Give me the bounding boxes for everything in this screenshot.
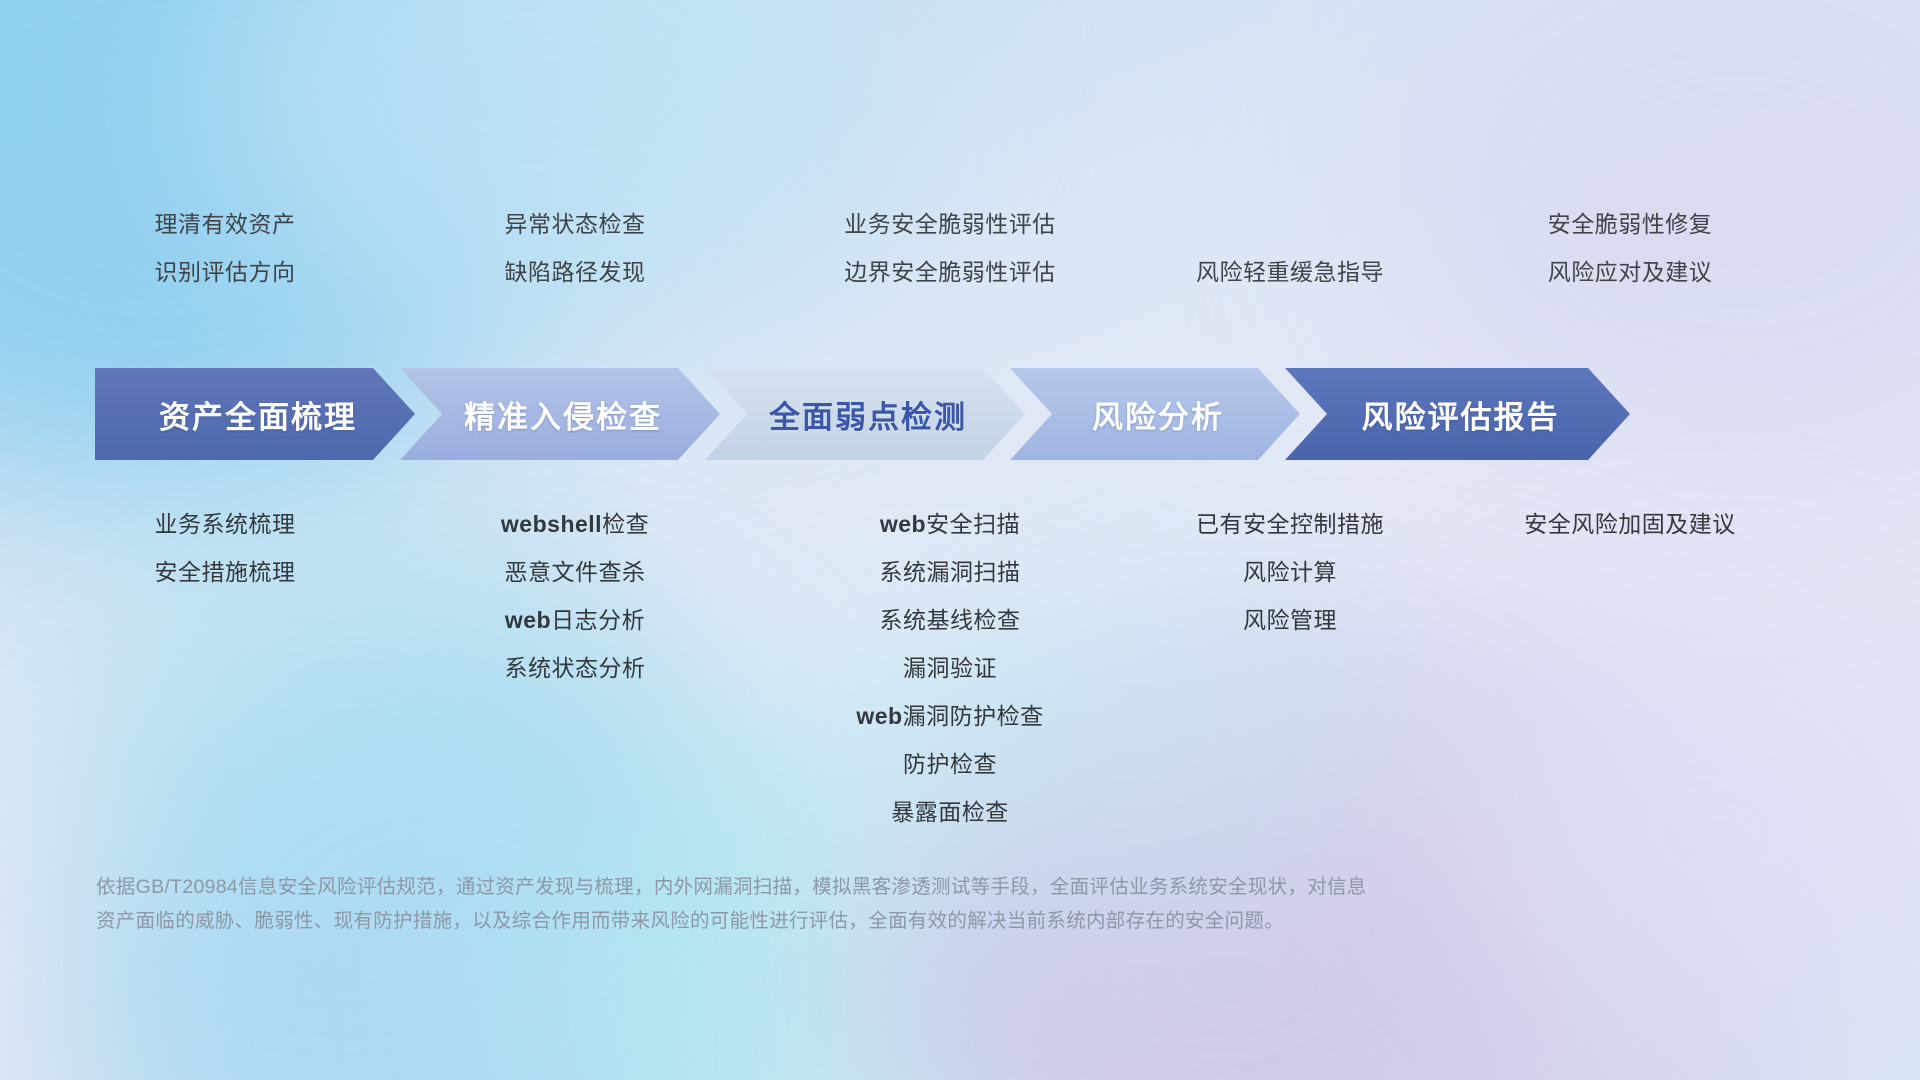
stage-bottom-item: 风险计算 [1090, 548, 1490, 596]
stage-bottom-item-text: 系统状态分析 [505, 655, 646, 681]
slide-canvas: 理清有效资产识别评估方向业务系统梳理安全措施梳理异常状态检查缺陷路径发现webs… [0, 0, 1920, 1080]
stage-chevron-label-2: 精准入侵检查 [458, 392, 662, 437]
stage-bottom-item-text: 安全措施梳理 [155, 559, 296, 585]
stage-top-note-list-2: 异常状态检查缺陷路径发现 [375, 200, 775, 296]
chevron-band: 资产全面梳理精准入侵检查全面弱点检测风险分析风险评估报告 [0, 368, 1920, 460]
stage-chevron-1[interactable]: 资产全面梳理 [95, 368, 415, 460]
stage-bottom-item-text: 恶意文件查杀 [505, 559, 646, 585]
stage-bottom-item-text: 业务系统梳理 [155, 511, 296, 537]
stage-bottom-item-text: 暴露面检查 [891, 799, 1009, 825]
stage-bottom-item-keyword: web [880, 511, 926, 537]
stage-bottom-item-keyword: web [505, 607, 551, 633]
stage-bottom-item: 安全措施梳理 [25, 548, 425, 596]
stage-bottom-item: 业务系统梳理 [25, 500, 425, 548]
stage-top-note: 风险应对及建议 [1430, 248, 1830, 296]
stage-bottom-item-text: 风险计算 [1243, 559, 1337, 585]
stage-bottom-item-text: 检查 [602, 511, 649, 537]
stage-bottom-item-list-1: 业务系统梳理安全措施梳理 [25, 500, 425, 596]
stage-chevron-2[interactable]: 精准入侵检查 [400, 368, 720, 460]
stage-bottom-item: 漏洞验证 [750, 644, 1150, 692]
stage-bottom-item-list-2: webshell检查恶意文件查杀web日志分析系统状态分析 [375, 500, 775, 692]
stage-chevron-label-5: 风险评估报告 [1356, 392, 1560, 437]
stage-top-note-list-5: 安全脆弱性修复风险应对及建议 [1430, 200, 1830, 296]
stage-top-note: 理清有效资产 [25, 200, 425, 248]
stage-bottom-item-keyword: webshell [501, 511, 602, 537]
stage-bottom-item-text: 系统基线检查 [880, 607, 1021, 633]
stage-bottom-item-text: 已有安全控制措施 [1196, 511, 1384, 537]
stage-chevron-3[interactable]: 全面弱点检测 [705, 368, 1025, 460]
stage-top-note: 识别评估方向 [25, 248, 425, 296]
stage-bottom-item: 安全风险加固及建议 [1430, 500, 1830, 548]
stage-bottom-item: 恶意文件查杀 [375, 548, 775, 596]
footer-line-2: 资产面临的威胁、脆弱性、现有防护措施，以及综合作用而带来风险的可能性进行评估，全… [96, 904, 1596, 938]
stage-bottom-item: webshell检查 [375, 500, 775, 548]
stage-bottom-item-text: 日志分析 [551, 607, 645, 633]
stage-chevron-label-3: 全面弱点检测 [763, 392, 967, 437]
stage-chevron-label-1: 资产全面梳理 [153, 392, 357, 437]
stage-top-note: 缺陷路径发现 [375, 248, 775, 296]
stage-bottom-item: web漏洞防护检查 [750, 692, 1150, 740]
stage-top-note: 异常状态检查 [375, 200, 775, 248]
stage-bottom-item-list-5: 安全风险加固及建议 [1430, 500, 1830, 548]
stage-bottom-item-text: 漏洞防护检查 [903, 703, 1044, 729]
stage-top-note: 安全脆弱性修复 [1430, 200, 1830, 248]
stage-chevron-5[interactable]: 风险评估报告 [1285, 368, 1630, 460]
stage-bottom-item: 风险管理 [1090, 596, 1490, 644]
stage-bottom-item: 暴露面检查 [750, 788, 1150, 836]
stage-top-note-list-1: 理清有效资产识别评估方向 [25, 200, 425, 296]
stage-chevron-label-4: 风险分析 [1086, 392, 1224, 437]
stage-bottom-item-keyword: web [856, 703, 902, 729]
stage-bottom-item-text: 系统漏洞扫描 [880, 559, 1021, 585]
stage-bottom-item-text: 安全风险加固及建议 [1524, 511, 1736, 537]
stage-bottom-item: 系统状态分析 [375, 644, 775, 692]
stage-bottom-item-text: 风险管理 [1243, 607, 1337, 633]
stage-bottom-item-text: 防护检查 [903, 751, 997, 777]
stage-bottom-item-text: 漏洞验证 [903, 655, 997, 681]
stage-top-note: 业务安全脆弱性评估 [750, 200, 1150, 248]
stage-bottom-item: 防护检查 [750, 740, 1150, 788]
footer-line-1: 依据GB/T20984信息安全风险评估规范，通过资产发现与梳理，内外网漏洞扫描，… [96, 870, 1596, 904]
stage-chevron-4[interactable]: 风险分析 [1010, 368, 1300, 460]
footer-description: 依据GB/T20984信息安全风险评估规范，通过资产发现与梳理，内外网漏洞扫描，… [96, 870, 1596, 938]
stage-bottom-item: web日志分析 [375, 596, 775, 644]
stage-bottom-item-text: 安全扫描 [926, 511, 1020, 537]
